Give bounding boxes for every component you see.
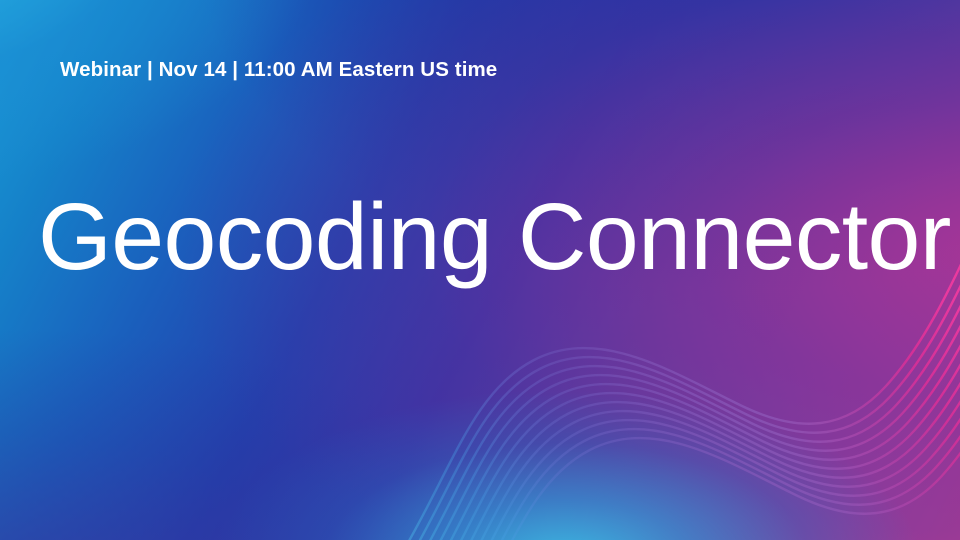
wave-line [426,273,960,540]
wave-line [431,282,960,540]
wave-line [420,264,960,540]
webinar-schedule-label: Webinar | Nov 14 | 11:00 AM Eastern US t… [60,58,497,82]
page-title: Geocoding Connector [38,186,951,289]
wave-line [409,246,960,540]
wave-line [454,318,960,540]
wave-line [437,291,960,540]
wave-line [415,255,960,540]
webinar-title-slide: Webinar | Nov 14 | 11:00 AM Eastern US t… [0,0,960,540]
wave-line [448,309,960,540]
wave-line [443,300,960,540]
